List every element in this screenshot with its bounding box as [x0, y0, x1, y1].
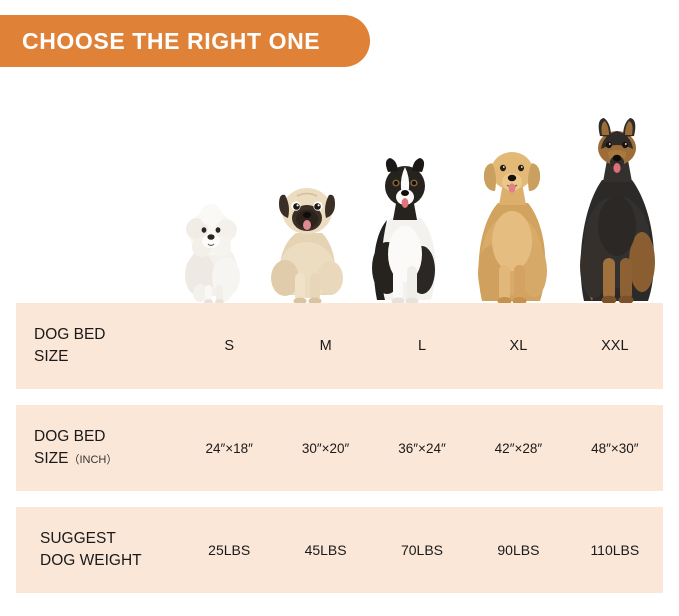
row-label-line2-text: SIZE — [34, 450, 68, 467]
pug-icon — [268, 175, 346, 305]
row-label-line1: DOG BED — [34, 326, 105, 343]
row-label-line1: DOG BED — [34, 428, 105, 445]
dog-illustration-row — [0, 110, 679, 305]
cell-size-s: S — [181, 338, 277, 354]
row-values: 24″×18″ 30″×20″ 36″×24″ 42″×28″ 48″×30″ — [181, 441, 663, 456]
row-label-suggest-weight: SUGGEST DOG WEIGHT — [16, 528, 181, 573]
cell-weight-xxl: 110LBS — [567, 542, 663, 558]
cell-size-xxl: XXL — [567, 338, 663, 354]
row-label-bed-size-inch: DOG BED SIZE（INCH） — [16, 426, 181, 471]
cell-dim-xl: 42″×28″ — [470, 441, 566, 456]
cell-dim-xxl: 48″×30″ — [567, 441, 663, 456]
size-table: DOG BED SIZE S M L XL XXL DOG BED SIZE（I… — [16, 303, 663, 593]
row-values: S M L XL XXL — [181, 338, 663, 354]
row-label-line1: SUGGEST — [40, 530, 116, 547]
header-banner: CHOOSE THE RIGHT ONE — [0, 15, 370, 67]
german-shepherd-icon — [570, 118, 664, 305]
dog-bichon-frise — [178, 197, 248, 305]
row-label-line2: SIZE — [34, 346, 181, 368]
dog-golden-retriever — [468, 137, 556, 305]
dog-pug — [268, 175, 346, 305]
cell-weight-xl: 90LBS — [470, 542, 566, 558]
cell-size-xl: XL — [470, 338, 566, 354]
dog-border-collie — [365, 150, 445, 305]
cell-size-l: L — [374, 338, 470, 354]
row-label-bed-size: DOG BED SIZE — [16, 324, 181, 369]
row-label-unit: （INCH） — [68, 454, 117, 466]
table-row: DOG BED SIZE S M L XL XXL — [16, 303, 663, 389]
row-label-line2: DOG WEIGHT — [40, 550, 181, 572]
table-row: SUGGEST DOG WEIGHT 25LBS 45LBS 70LBS 90L… — [16, 507, 663, 593]
dog-german-shepherd — [570, 118, 664, 305]
cell-weight-m: 45LBS — [277, 542, 373, 558]
cell-dim-s: 24″×18″ — [181, 441, 277, 456]
table-row: DOG BED SIZE（INCH） 24″×18″ 30″×20″ 36″×2… — [16, 405, 663, 491]
border-collie-icon — [365, 150, 445, 305]
cell-size-m: M — [277, 338, 373, 354]
cell-dim-m: 30″×20″ — [277, 441, 373, 456]
cell-dim-l: 36″×24″ — [374, 441, 470, 456]
bichon-frise-icon — [178, 197, 248, 305]
size-chart-page: CHOOSE THE RIGHT ONE — [0, 0, 679, 616]
golden-retriever-icon — [468, 137, 556, 305]
banner-title: CHOOSE THE RIGHT ONE — [0, 28, 320, 55]
cell-weight-s: 25LBS — [181, 542, 277, 558]
cell-weight-l: 70LBS — [374, 542, 470, 558]
row-label-line2: SIZE（INCH） — [34, 448, 181, 470]
row-values: 25LBS 45LBS 70LBS 90LBS 110LBS — [181, 542, 663, 558]
